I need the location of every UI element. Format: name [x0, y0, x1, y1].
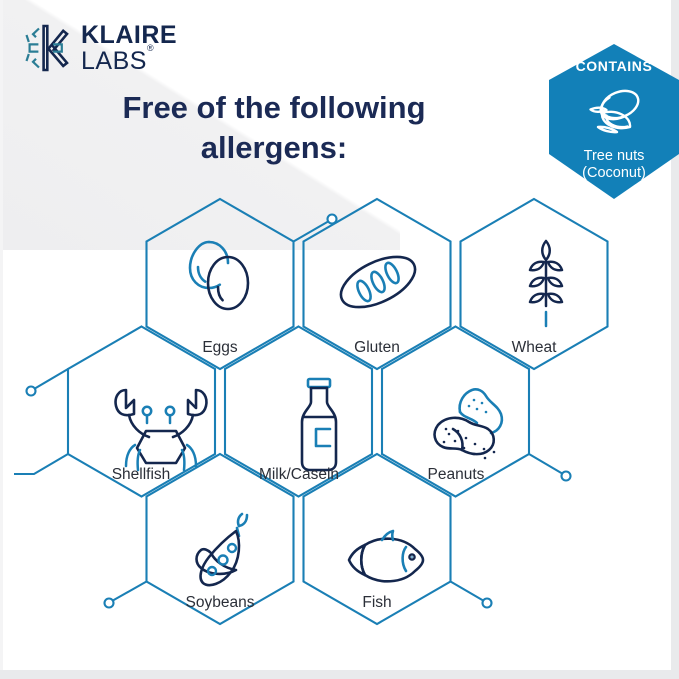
allergen-label-fish: Fish	[362, 594, 391, 612]
frame-left-edge	[0, 0, 3, 679]
allergen-label-gluten: Gluten	[354, 339, 400, 357]
soybean-pod-icon	[179, 508, 283, 606]
fish-icon	[334, 523, 438, 599]
crab-icon	[106, 378, 216, 476]
allergen-label-milk-casein: Milk/Casein	[259, 466, 339, 484]
allergen-label-peanuts: Peanuts	[428, 466, 485, 484]
allergen-label-soybeans: Soybeans	[186, 594, 255, 612]
allergen-label-wheat: Wheat	[512, 339, 557, 357]
frame-bottom-edge	[0, 670, 679, 679]
allergen-label-eggs: Eggs	[202, 339, 237, 357]
infographic-card: KLAIRE LABS® Free of the following aller…	[14, 14, 667, 662]
allergen-label-shellfish: Shellfish	[112, 466, 171, 484]
eggs-icon	[173, 229, 267, 323]
allergen-infographic: KLAIRE LABS® Free of the following aller…	[0, 0, 679, 679]
bread-loaf-icon	[331, 242, 425, 322]
milk-bottle-icon	[288, 374, 350, 478]
peanuts-icon	[422, 384, 526, 474]
wheat-stalk-icon	[511, 234, 581, 334]
